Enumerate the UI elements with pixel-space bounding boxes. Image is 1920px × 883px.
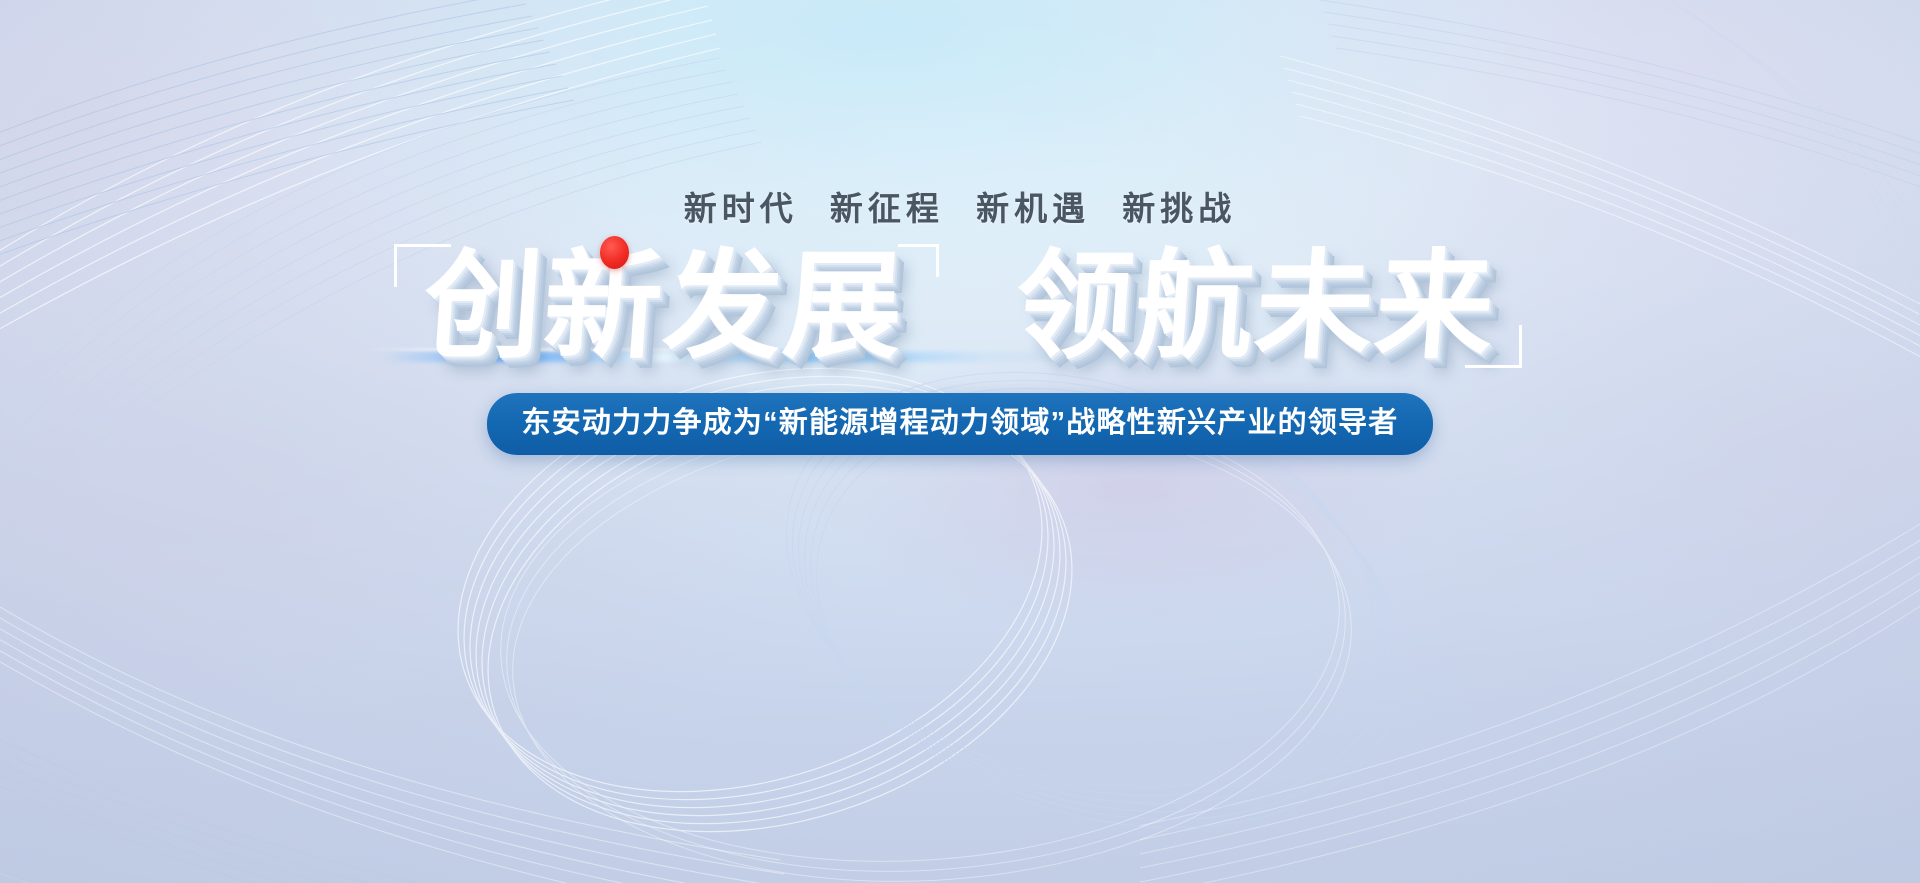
red-dot-accent-icon (600, 236, 629, 269)
corner-bracket-left-icon (394, 244, 451, 287)
page-title: 创新发展 领航未来 (420, 248, 1500, 366)
eyebrow-slogan: 新时代 新征程 新机遇 新挑战 (0, 182, 1920, 230)
headline-left: 创新发展 (420, 241, 909, 373)
eyebrow-phrase-3: 新机遇 (976, 190, 1090, 227)
headline-right: 领航未来 (1011, 241, 1500, 373)
banner-canvas: 新时代 新征程 新机遇 新挑战 创新发展 领航未来 东安动力力争成为“新能源增程… (0, 0, 1920, 883)
eyebrow-phrase-2: 新征程 (830, 190, 944, 227)
corner-bracket-middle-icon (898, 244, 939, 277)
corner-bracket-right-icon (1465, 325, 1522, 368)
headline-container: 创新发展 领航未来 (0, 232, 1920, 382)
slogan-text: 东安动力力争成为“新能源增程动力领域”战略性新兴产业的领导者 (521, 405, 1398, 441)
status-badge: 东安动力力争成为“新能源增程动力领域”战略性新兴产业的领导者 (487, 393, 1432, 455)
eyebrow-phrase-4: 新挑战 (1122, 190, 1236, 227)
headline-inner: 创新发展 领航未来 (424, 248, 1496, 366)
eyebrow-phrase-1: 新时代 (684, 190, 798, 227)
slogan-pill-container: 东安动力力争成为“新能源增程动力领域”战略性新兴产业的领导者 (0, 393, 1920, 455)
